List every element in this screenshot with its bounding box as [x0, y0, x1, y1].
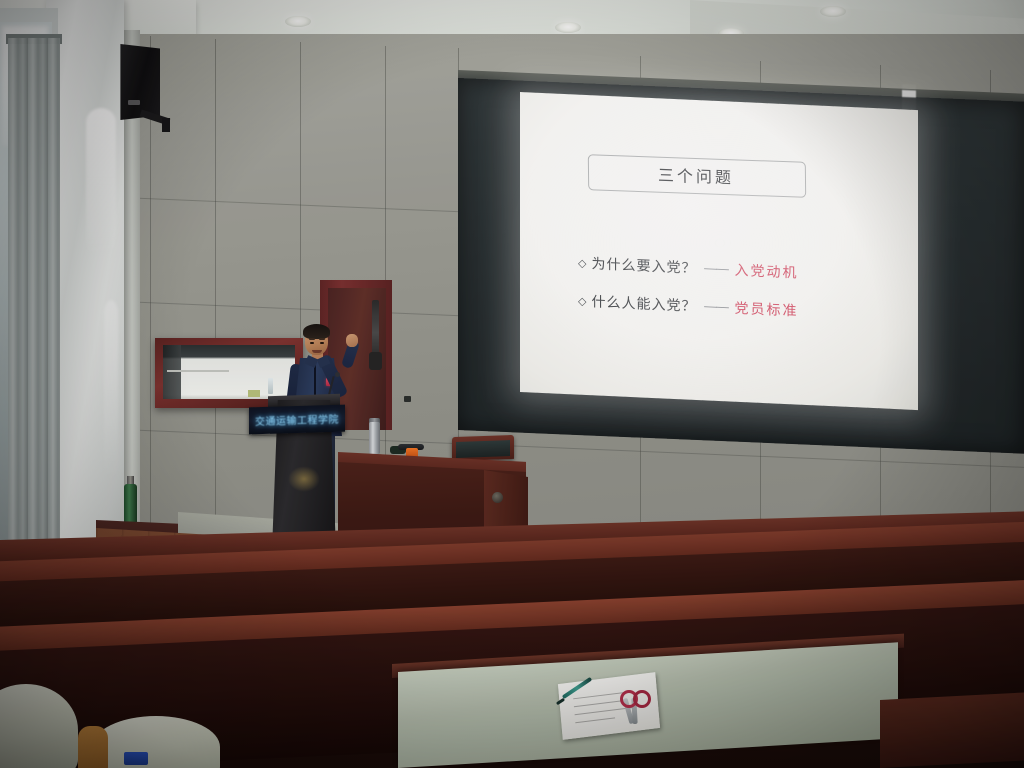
bullet-question: 什么人能入党？ [591, 291, 696, 316]
panel-seam [215, 39, 216, 559]
marble-gloss-highlight [86, 108, 116, 258]
speaker-eyebrow-left [309, 338, 315, 340]
window-curtain [8, 38, 60, 544]
speaker-eye-right [320, 342, 324, 344]
bullet-answer: 入党动机 [734, 260, 798, 283]
seat-armrest [78, 726, 108, 768]
podium-microphone-head [335, 372, 340, 377]
downlight [555, 22, 581, 33]
display-case-shadow [163, 345, 181, 399]
bullet-marker-icon: ◇ [578, 256, 586, 269]
bullet-dash: —— [703, 260, 727, 277]
bullet-question: 为什么要入党？ [591, 253, 696, 278]
podium-sign-text: 交通运输工程学院 [251, 408, 343, 432]
marble-gloss-highlight-lower [104, 300, 118, 480]
slide-content: 三个问题 ◇ 为什么要入党？ —— 入党动机 ◇ 什么人能入党？ —— 党员标准 [520, 92, 918, 410]
speaker-right-hand [346, 334, 358, 347]
bullet-answer: 党员标准 [734, 298, 798, 321]
slide-bullet-row: ◇ 为什么要入党？ —— 入党动机 [578, 253, 798, 283]
wall-outlet [404, 396, 411, 402]
bullet-marker-icon: ◇ [578, 294, 586, 307]
speaker-mouth [312, 350, 322, 353]
slide-bullet-row: ◇ 什么人能入党？ —— 党员标准 [578, 291, 798, 321]
speaker-eyebrow-right [319, 338, 325, 340]
speaker-bracket-post [162, 118, 170, 132]
nameplate-glass [456, 440, 510, 458]
podium-emblem [288, 466, 320, 492]
downlight [820, 6, 846, 17]
water-bottle [268, 378, 273, 394]
photograph-scene: 三个问题 ◇ 为什么要入党？ —— 入党动机 ◇ 什么人能入党？ —— 党员标准 [0, 0, 1024, 768]
seat-number-tag [124, 752, 148, 765]
display-case-shelf [167, 370, 229, 372]
wall-speaker [116, 44, 160, 120]
scissors-handle-b [633, 690, 651, 708]
door-closer-arm [369, 352, 382, 370]
foreground-desk-right-block [880, 692, 1024, 768]
green-object [248, 390, 260, 397]
display-case-interior [163, 345, 295, 399]
fire-extinguisher [124, 484, 137, 526]
speaker-hair [303, 324, 330, 339]
downlight [285, 16, 311, 27]
bullet-dash: —— [703, 298, 727, 315]
thermos-flask [369, 422, 380, 454]
speaker-eye-left [310, 342, 314, 344]
desk-knob [492, 492, 503, 503]
speaker-logo [128, 100, 140, 105]
